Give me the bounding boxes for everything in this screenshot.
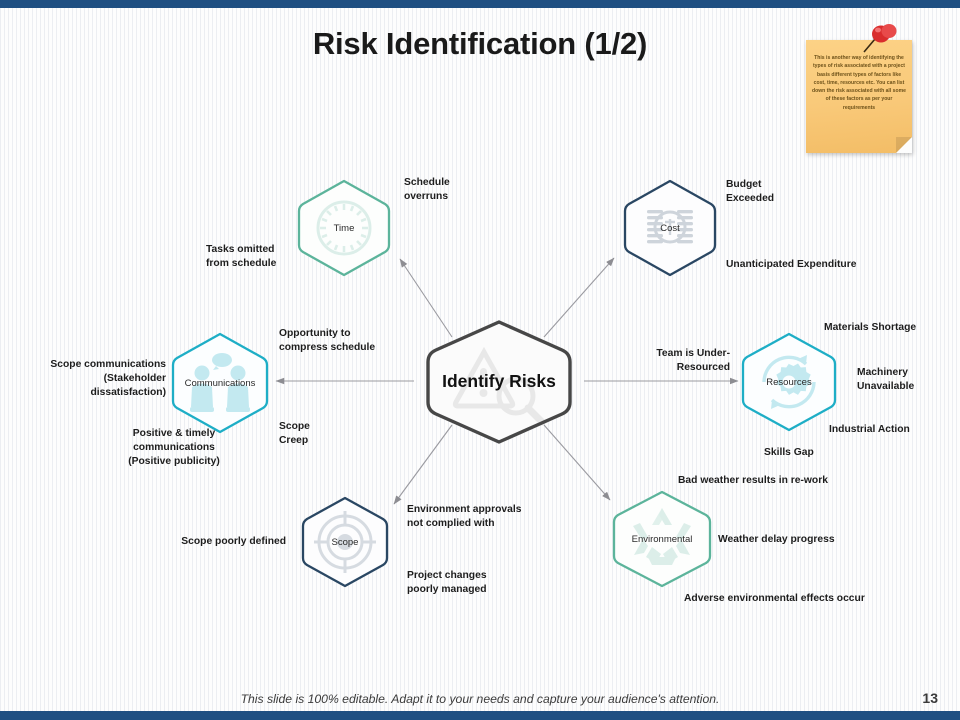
risk-schedule-overruns: Schedule overruns	[404, 176, 450, 204]
risk-skills-gap: Skills Gap	[764, 446, 814, 460]
page-number: 13	[922, 690, 938, 706]
risk-budget-exceeded: Budget Exceeded	[726, 178, 774, 206]
risk-unanticipated-expenditure: Unanticipated Expenditure	[726, 258, 856, 272]
risk-scope-creep: Scope Creep	[279, 420, 310, 448]
node-time[interactable]: Time	[296, 178, 392, 278]
pushpin-icon	[858, 22, 898, 56]
sticky-note-corner-curl	[896, 137, 912, 153]
risk-industrial-action: Industrial Action	[829, 423, 910, 437]
node-resources[interactable]: Resources	[740, 331, 838, 433]
node-communications[interactable]: Communications	[170, 331, 270, 435]
node-environmental[interactable]: Environmental	[610, 489, 714, 589]
sticky-note-text: This is another way of identifying the t…	[812, 54, 906, 112]
risk-scope-communications: Scope communications (Stakeholder dissat…	[10, 358, 166, 401]
node-identify-risks[interactable]: Identify Risks	[424, 318, 574, 446]
risk-tasks-omitted: Tasks omitted from schedule	[206, 243, 276, 271]
risk-bad-weather: Bad weather results in re-work	[678, 474, 828, 488]
footer-note: This slide is 100% editable. Adapt it to…	[0, 692, 960, 706]
bottom-accent-bar	[0, 711, 960, 720]
slide-canvas: Risk Identification (1/2) This is anothe…	[0, 0, 960, 720]
risk-scope-poorly-defined: Scope poorly defined	[150, 535, 286, 549]
risk-opportunity-compress: Opportunity to compress schedule	[279, 327, 375, 355]
sticky-note: This is another way of identifying the t…	[806, 40, 912, 153]
node-cost[interactable]: Cost	[622, 178, 718, 278]
risk-materials-shortage: Materials Shortage	[824, 321, 916, 335]
top-accent-bar	[0, 0, 960, 8]
risk-adverse-effects: Adverse environmental effects occur	[684, 592, 865, 606]
risk-weather-delay: Weather delay progress	[718, 533, 835, 547]
risk-team-under-resourced: Team is Under- Resourced	[620, 347, 730, 375]
node-scope[interactable]: Scope	[300, 495, 390, 589]
risk-positive-timely: Positive & timely communications (Positi…	[78, 427, 270, 470]
risk-environment-approvals: Environment approvals not complied with	[407, 503, 521, 531]
risk-machinery-unavailable: Machinery Unavailable	[857, 366, 914, 394]
risk-project-changes: Project changes poorly managed	[407, 569, 487, 597]
